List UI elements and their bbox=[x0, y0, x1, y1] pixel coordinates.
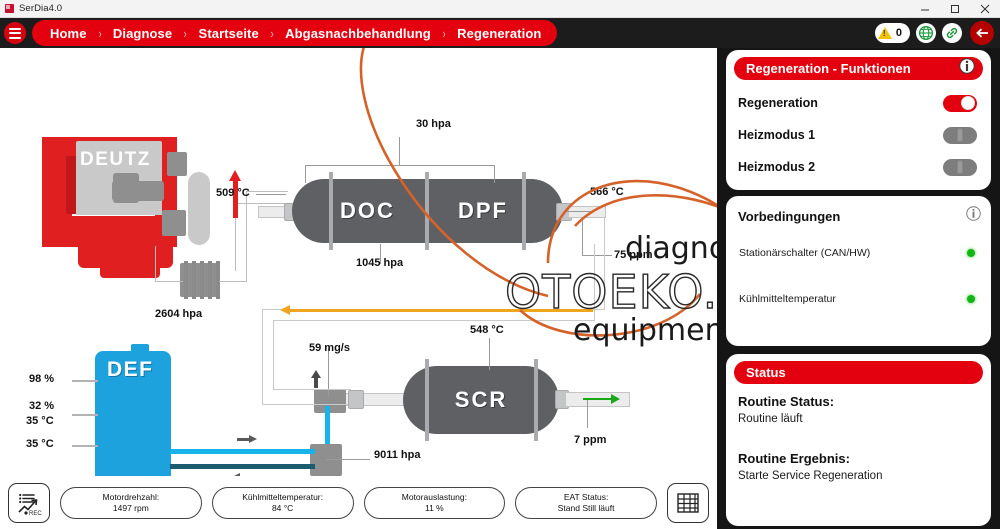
link-icon[interactable] bbox=[942, 23, 962, 43]
panel-title: Status bbox=[746, 365, 786, 380]
panel-header: Status bbox=[734, 361, 983, 384]
breadcrumb-item-abgasnachbehandlung[interactable]: Abgasnachbehandlung bbox=[283, 26, 433, 41]
info-icon[interactable] bbox=[966, 206, 981, 226]
arrow-left-icon bbox=[975, 26, 990, 40]
breadcrumb-item-regeneration[interactable]: Regeneration bbox=[455, 26, 543, 41]
label-doc-out-temp: 566 °C bbox=[590, 186, 624, 198]
function-row-regeneration[interactable]: Regeneration bbox=[726, 90, 991, 116]
label-def-temp-2: 35 °C bbox=[26, 438, 54, 450]
rec-text: REC bbox=[29, 511, 42, 517]
label-scr-pressure: 9011 hpa bbox=[374, 449, 420, 461]
routine-status-label: Routine Status: bbox=[726, 384, 991, 409]
label-def-quality: 32 % bbox=[29, 400, 54, 412]
readout-key: EAT Status: bbox=[564, 492, 609, 503]
readout-key: Kühlmitteltemperatur: bbox=[242, 492, 323, 503]
warning-badge[interactable]: 0 bbox=[875, 23, 910, 43]
table-grid-icon[interactable] bbox=[667, 483, 709, 523]
chevron-right-icon: › bbox=[436, 26, 453, 41]
status-led bbox=[967, 249, 975, 257]
close-icon[interactable] bbox=[970, 0, 1000, 18]
readout-motordrehzahl: Motordrehzahl: 1497 rpm bbox=[60, 487, 202, 519]
exhaust-system-diagram: DEUTZ DOC DP bbox=[0, 48, 717, 476]
toggle-regeneration[interactable] bbox=[943, 95, 977, 112]
readout-eat-status: EAT Status: Stand Still läuft bbox=[515, 487, 657, 519]
label-doc-dpf-pressure: 1045 hpa bbox=[356, 257, 403, 269]
function-row-heizmodus-1[interactable]: Heizmodus 1 bbox=[726, 122, 991, 148]
label-scr-temp: 548 °C bbox=[470, 324, 504, 336]
label-def-temp-1: 35 °C bbox=[26, 415, 54, 427]
readout-key: Motorauslastung: bbox=[402, 492, 467, 503]
warning-triangle-icon bbox=[878, 27, 892, 39]
app-icon bbox=[5, 4, 14, 13]
back-button[interactable] bbox=[970, 21, 994, 45]
engine-brand-label: DEUTZ bbox=[80, 149, 151, 171]
readout-value: 1497 rpm bbox=[113, 503, 149, 514]
label-doc-dpf-delta-pressure: 30 hpa bbox=[416, 118, 451, 130]
label-intake-pressure: 2604 hpa bbox=[155, 308, 202, 320]
function-label: Regeneration bbox=[738, 96, 818, 110]
precondition-row-stationaerschalter: Stationärschalter (CAN/HW) bbox=[726, 238, 991, 268]
panel-regeneration-funktionen: Regeneration - Funktionen Regeneration H… bbox=[726, 50, 991, 190]
def-label: DEF bbox=[107, 358, 154, 382]
routine-result-value: Starte Service Regeneration bbox=[726, 466, 991, 482]
panel-title: Regeneration - Funktionen bbox=[746, 61, 911, 76]
maximize-icon[interactable] bbox=[940, 0, 970, 18]
record-chart-icon[interactable]: REC bbox=[8, 483, 50, 523]
toggle-heizmodus-1[interactable] bbox=[943, 127, 977, 144]
breadcrumb-item-home[interactable]: Home bbox=[48, 26, 89, 41]
readout-key: Motordrehzahl: bbox=[103, 492, 160, 503]
precondition-label: Kühlmitteltemperatur bbox=[739, 293, 836, 305]
readout-value: 84 °C bbox=[272, 503, 293, 514]
label-def-level: 98 % bbox=[29, 373, 54, 385]
dpf-label: DPF bbox=[458, 198, 508, 224]
breadcrumb-item-diagnose[interactable]: Diagnose bbox=[111, 26, 174, 41]
panel-header: Vorbedingungen bbox=[726, 196, 991, 226]
right-panel-column: Regeneration - Funktionen Regeneration H… bbox=[717, 48, 1000, 529]
precondition-row-kuehlmitteltemperatur: Kühlmitteltemperatur bbox=[726, 284, 991, 314]
readout-value: 11 % bbox=[425, 503, 444, 514]
panel-title: Vorbedingungen bbox=[738, 209, 840, 224]
warning-count: 0 bbox=[896, 27, 902, 39]
window-title: SerDia4.0 bbox=[19, 3, 62, 14]
bottom-status-bar: REC Motordrehzahl: 1497 rpm Kühlmittelte… bbox=[0, 476, 717, 529]
chevron-right-icon: › bbox=[91, 26, 108, 41]
label-nox-downstream: 7 ppm bbox=[574, 434, 606, 446]
panel-header: Regeneration - Funktionen bbox=[734, 57, 983, 80]
panel-status: Status Routine Status: Routine läuft Rou… bbox=[726, 354, 991, 526]
panel-vorbedingungen: Vorbedingungen Stationärschalter (CAN/HW… bbox=[726, 196, 991, 346]
window-controls bbox=[910, 0, 1000, 18]
os-title-bar: SerDia4.0 bbox=[0, 0, 1000, 18]
routine-status-value: Routine läuft bbox=[726, 409, 991, 425]
scr-label: SCR bbox=[455, 387, 507, 413]
function-label: Heizmodus 1 bbox=[738, 128, 815, 142]
breadcrumb: Home › Diagnose › Startseite › Abgasnach… bbox=[32, 20, 557, 46]
chevron-right-icon: › bbox=[177, 26, 194, 41]
precondition-label: Stationärschalter (CAN/HW) bbox=[739, 247, 870, 259]
globe-icon[interactable] bbox=[916, 23, 936, 43]
routine-result-label: Routine Ergebnis: bbox=[726, 425, 991, 466]
application-window: SerDia4.0 Home › Diagnose › Startseite ›… bbox=[0, 0, 1000, 529]
function-label: Heizmodus 2 bbox=[738, 160, 815, 174]
doc-label: DOC bbox=[340, 198, 395, 224]
label-nox-upstream: 75 ppm bbox=[614, 249, 653, 261]
chevron-right-icon: › bbox=[264, 26, 281, 41]
info-icon[interactable] bbox=[959, 58, 975, 79]
hamburger-icon[interactable] bbox=[4, 22, 26, 44]
toggle-heizmodus-2[interactable] bbox=[943, 159, 977, 176]
label-turbo-out-temp: 509 °C bbox=[216, 187, 250, 199]
readout-value: Stand Still läuft bbox=[558, 503, 615, 514]
status-led bbox=[967, 295, 975, 303]
label-def-dosing: 59 mg/s bbox=[309, 342, 350, 354]
function-row-heizmodus-2[interactable]: Heizmodus 2 bbox=[726, 154, 991, 180]
minimize-icon[interactable] bbox=[910, 0, 940, 18]
header-actions: 0 bbox=[875, 21, 1000, 45]
readout-kuehlmitteltemperatur: Kühlmitteltemperatur: 84 °C bbox=[212, 487, 354, 519]
app-header: Home › Diagnose › Startseite › Abgasnach… bbox=[0, 18, 1000, 48]
breadcrumb-item-startseite[interactable]: Startseite bbox=[197, 26, 261, 41]
readout-motorauslastung: Motorauslastung: 11 % bbox=[364, 487, 506, 519]
